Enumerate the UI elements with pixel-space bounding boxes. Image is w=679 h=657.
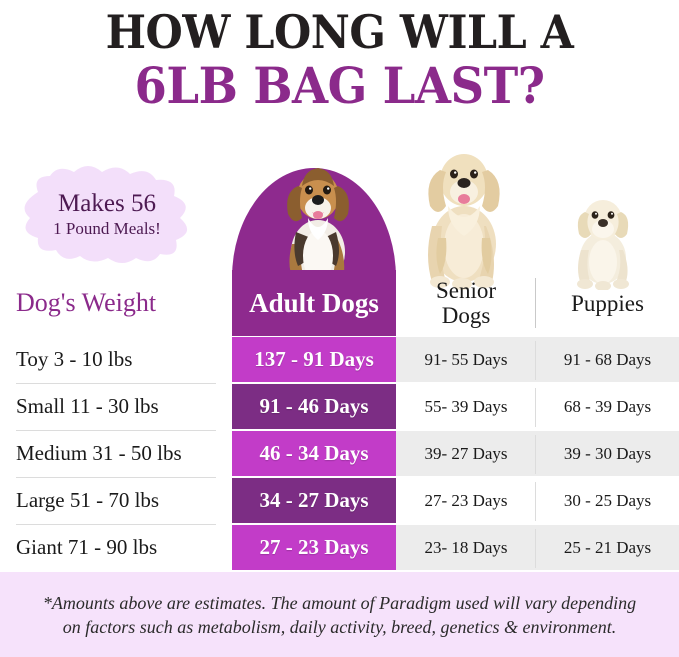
badge-line-1: Makes 56 [58,190,156,218]
cell-puppies-value: 91 - 68 Days [564,350,651,370]
header-label-puppies: Puppies [571,291,644,316]
cell-senior-value: 23- 18 Days [424,538,507,558]
cell-adult-value: 27 - 23 Days [259,535,368,560]
header-label-senior: Senior Dogs [436,278,496,328]
cell-weight: Large 51 - 70 lbs [0,477,232,524]
header-cell-puppies: Puppies [536,270,679,336]
cell-senior-value: 55- 39 Days [424,397,507,417]
cell-senior-dogs: 23- 18 Days [396,524,536,571]
cell-weight-label: Large 51 - 70 lbs [16,488,159,513]
cell-weight-label: Small 11 - 30 lbs [16,394,159,419]
makes-56-badge: Makes 56 1 Pound Meals! [14,162,200,266]
cell-weight: Small 11 - 30 lbs [0,383,232,430]
cell-adult-dogs: 34 - 27 Days [232,477,396,524]
adult-dog-image [272,140,364,290]
cell-adult-value: 34 - 27 Days [259,488,368,513]
header-label-weight: Dog's Weight [16,288,156,318]
cell-adult-dogs: 137 - 91 Days [232,336,396,383]
table-row: Giant 71 - 90 lbs27 - 23 Days23- 18 Days… [0,524,679,571]
header-label-senior-line2: Dogs [442,303,491,328]
row-divider [16,477,216,478]
cell-adult-value: 46 - 34 Days [259,441,368,466]
cell-adult-dogs: 91 - 46 Days [232,383,396,430]
cell-adult-dogs: 27 - 23 Days [232,524,396,571]
cell-puppies: 39 - 30 Days [536,430,679,477]
cell-senior-dogs: 55- 39 Days [396,383,536,430]
table-row: Medium 31 - 50 lbs46 - 34 Days39- 27 Day… [0,430,679,477]
cell-senior-value: 39- 27 Days [424,444,507,464]
cell-puppies: 25 - 21 Days [536,524,679,571]
cell-adult-dogs: 46 - 34 Days [232,430,396,477]
senior-dog-image [414,126,514,290]
cell-puppies: 68 - 39 Days [536,383,679,430]
disclaimer-text: *Amounts above are estimates. The amount… [0,591,679,639]
page-title: HOW LONG WILL A 6LB BAG LAST? [0,0,679,122]
cell-weight-label: Medium 31 - 50 lbs [16,441,182,466]
row-divider [16,430,216,431]
cell-puppies: 91 - 68 Days [536,336,679,383]
cell-puppies-value: 30 - 25 Days [564,491,651,511]
feeding-chart-table: Dog's Weight Adult Dogs Senior Dogs Pupp… [0,270,679,571]
cell-senior-value: 27- 23 Days [424,491,507,511]
cell-puppies: 30 - 25 Days [536,477,679,524]
cell-puppies-value: 25 - 21 Days [564,538,651,558]
table-row: Large 51 - 70 lbs34 - 27 Days27- 23 Days… [0,477,679,524]
cell-senior-value: 91- 55 Days [424,350,507,370]
table-row: Toy 3 - 10 lbs137 - 91 Days91- 55 Days91… [0,336,679,383]
title-line-2: 6LB BAG LAST? [24,58,655,114]
cell-weight-label: Giant 71 - 90 lbs [16,535,157,560]
cell-weight: Medium 31 - 50 lbs [0,430,232,477]
table-row: Small 11 - 30 lbs91 - 46 Days55- 39 Days… [0,383,679,430]
cell-senior-dogs: 91- 55 Days [396,336,536,383]
badge-line-2: 1 Pound Meals! [53,218,161,239]
disclaimer-banner: *Amounts above are estimates. The amount… [0,572,679,657]
cell-senior-dogs: 39- 27 Days [396,430,536,477]
cell-puppies-value: 39 - 30 Days [564,444,651,464]
header-cell-weight: Dog's Weight [0,270,232,336]
title-line-1: HOW LONG WILL A [24,6,655,58]
header-cell-senior: Senior Dogs [396,270,536,336]
header-label-adult: Adult Dogs [249,288,379,319]
cell-adult-value: 137 - 91 Days [254,347,374,372]
cell-weight: Giant 71 - 90 lbs [0,524,232,571]
row-divider [16,524,216,525]
badge-text: Makes 56 1 Pound Meals! [14,162,200,266]
cell-weight: Toy 3 - 10 lbs [0,336,232,383]
header-label-senior-line1: Senior [436,278,496,303]
row-divider [16,383,216,384]
cell-senior-dogs: 27- 23 Days [396,477,536,524]
header-cell-adult: Adult Dogs [232,270,396,336]
cell-adult-value: 91 - 46 Days [259,394,368,419]
cell-puppies-value: 68 - 39 Days [564,397,651,417]
cell-weight-label: Toy 3 - 10 lbs [16,347,132,372]
table-header-row: Dog's Weight Adult Dogs Senior Dogs Pupp… [0,270,679,336]
